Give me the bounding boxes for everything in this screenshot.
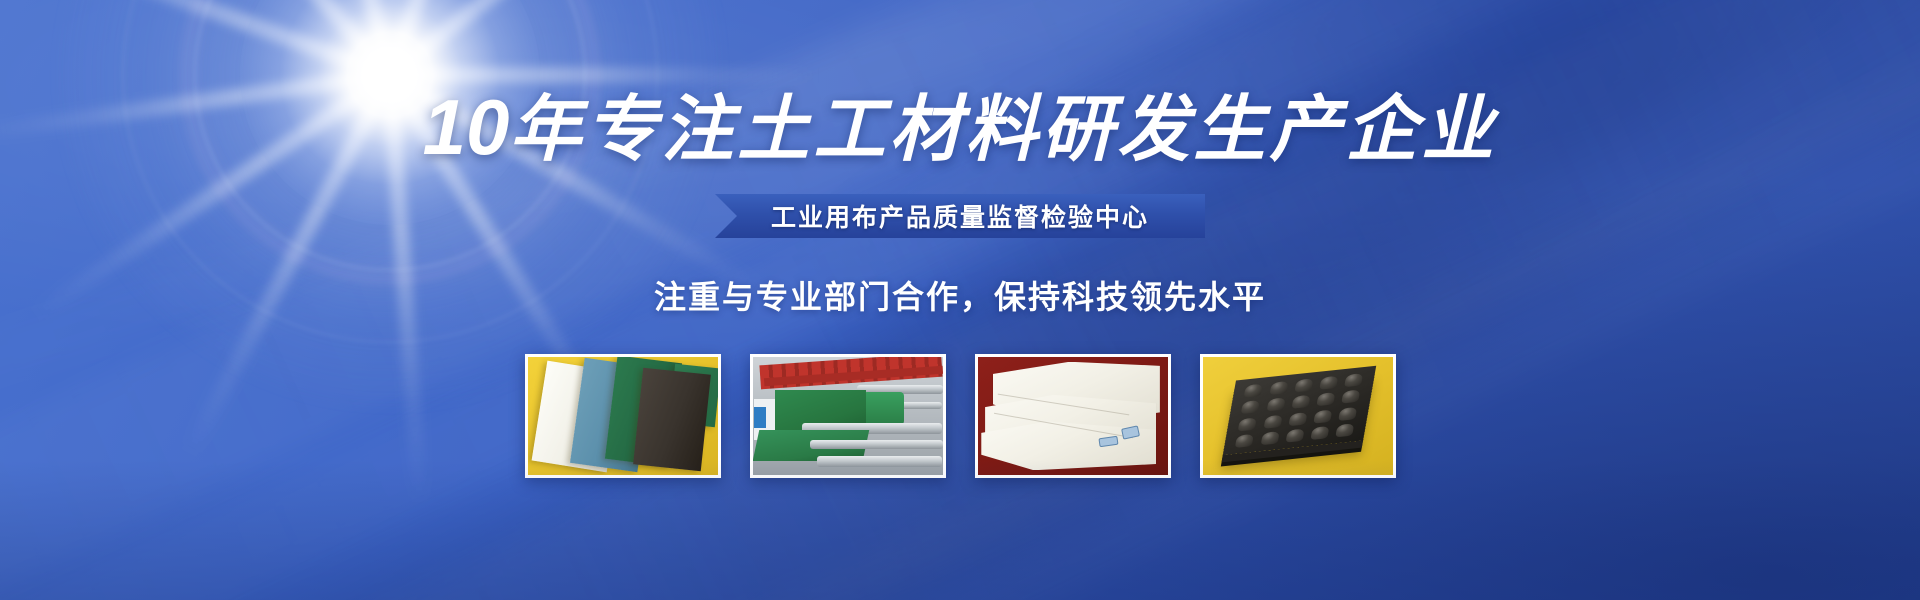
thumbnail-geomembrane-sheets[interactable] [525,354,721,478]
thumbnail-nonwoven-geotextile[interactable] [975,354,1171,478]
headline-years-number: 10 [423,83,510,171]
banner-content: 10年专注土工材料研发生产企业 工业用布产品质量监督检验中心 注重与专业部门合作… [0,0,1920,600]
headline-text: 年专注土工材料研发生产企业 [509,90,1497,170]
thumbnail-drainage-board[interactable] [1200,354,1396,478]
tagline: 注重与专业部门合作，保持科技领先水平 [654,272,1266,318]
thumbnail-production-line[interactable] [750,354,946,478]
certification-ribbon: 工业用布产品质量监督检验中心 [715,194,1205,238]
promotional-banner: 10年专注土工材料研发生产企业 工业用布产品质量监督检验中心 注重与专业部门合作… [0,0,1920,600]
product-thumbnail-strip [525,354,1396,478]
ribbon-label: 工业用布产品质量监督检验中心 [771,198,1149,234]
headline: 10年专注土工材料研发生产企业 [423,88,1498,166]
